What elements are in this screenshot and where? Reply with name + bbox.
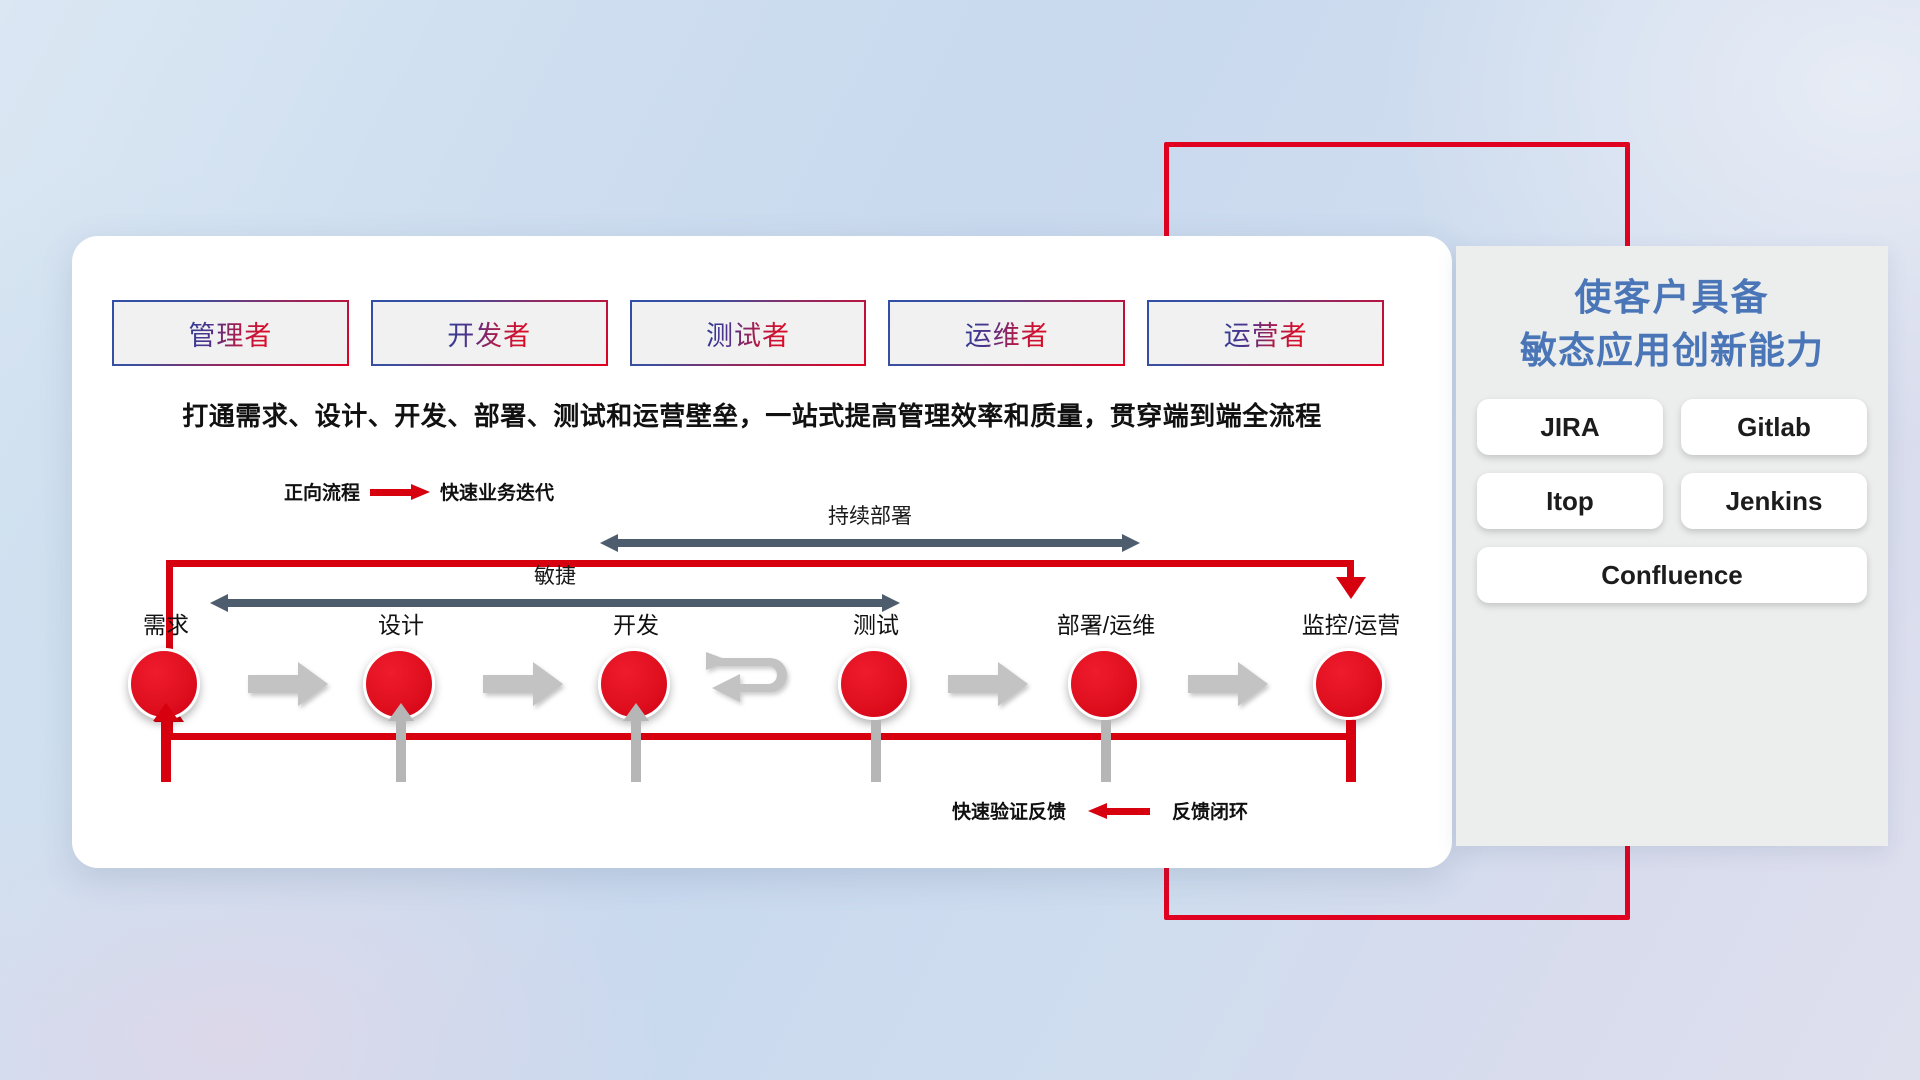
arrow-block-right-icon [248,662,328,706]
red-circle-icon [838,648,910,720]
pipeline-node-label: 测试 [853,606,899,640]
right-panel-title-line2: 敏态应用创新能力 [1470,325,1874,378]
arrow-left-red-icon [1088,803,1150,819]
right-panel-title: 使客户具备 敏态应用创新能力 [1456,246,1888,377]
tool-chip-label: JIRA [1540,412,1599,443]
red-circle-icon [1313,648,1385,720]
tool-chip-label: Jenkins [1726,486,1823,517]
pipeline-node-label: 开发 [613,606,659,640]
tool-chip-label: Confluence [1601,560,1743,591]
tool-chip-gitlab[interactable]: Gitlab [1681,399,1867,455]
connector-stem-up-gray [396,720,406,782]
arrow-loop-cycle-icon [700,648,808,710]
right-panel-title-line1: 使客户具备 [1470,272,1874,325]
pipeline-node-requirement[interactable]: 需求 [128,648,204,720]
pipeline-node-label: 设计 [378,606,424,640]
pipeline-node-label: 需求 [143,606,189,640]
connector-stem-down-gray [871,720,881,782]
pipeline-node-monitor-operate[interactable]: 监控/运营 [1313,648,1389,720]
connector-stem-down-gray [1101,720,1111,782]
red-circle-icon [1068,648,1140,720]
arrow-block-right-icon [1188,662,1268,706]
tool-chip-grid: JIRA Gitlab Itop Jenkins Confluence [1470,399,1874,603]
tool-chip-confluence[interactable]: Confluence [1477,547,1867,603]
legend-feedback-source-label: 反馈闭环 [1172,797,1248,824]
tool-chip-label: Itop [1546,486,1594,517]
pipeline-node-deploy-ops[interactable]: 部署/运维 [1068,648,1144,720]
connector-stem-down-red [1346,720,1356,782]
tool-chip-itop[interactable]: Itop [1477,473,1663,529]
legend-feedback-loop: 快速验证反馈 反馈闭环 [952,797,1248,824]
right-value-panel: 使客户具备 敏态应用创新能力 JIRA Gitlab Itop Jenkins … [1456,246,1888,846]
pipeline-node-label: 监控/运营 [1302,606,1400,640]
connector-stem-up-gray [631,720,641,782]
pipeline-node-testing[interactable]: 测试 [838,648,914,720]
pipeline-node-design[interactable]: 设计 [363,648,439,720]
legend-feedback-target-label: 快速验证反馈 [952,797,1066,824]
pipeline-node-label: 部署/运维 [1057,606,1155,640]
arrow-block-right-icon [948,662,1028,706]
tool-chip-jira[interactable]: JIRA [1477,399,1663,455]
connector-stem-up-red [161,720,171,782]
tool-chip-jenkins[interactable]: Jenkins [1681,473,1867,529]
tool-chip-label: Gitlab [1737,412,1811,443]
pipeline-node-development[interactable]: 开发 [598,648,674,720]
diagram-canvas: 管理者 开发者 测试者 运维者 运营者 打通需求、设计、开发、部署、测试和运营壁… [0,0,1920,1080]
arrow-block-right-icon [483,662,563,706]
